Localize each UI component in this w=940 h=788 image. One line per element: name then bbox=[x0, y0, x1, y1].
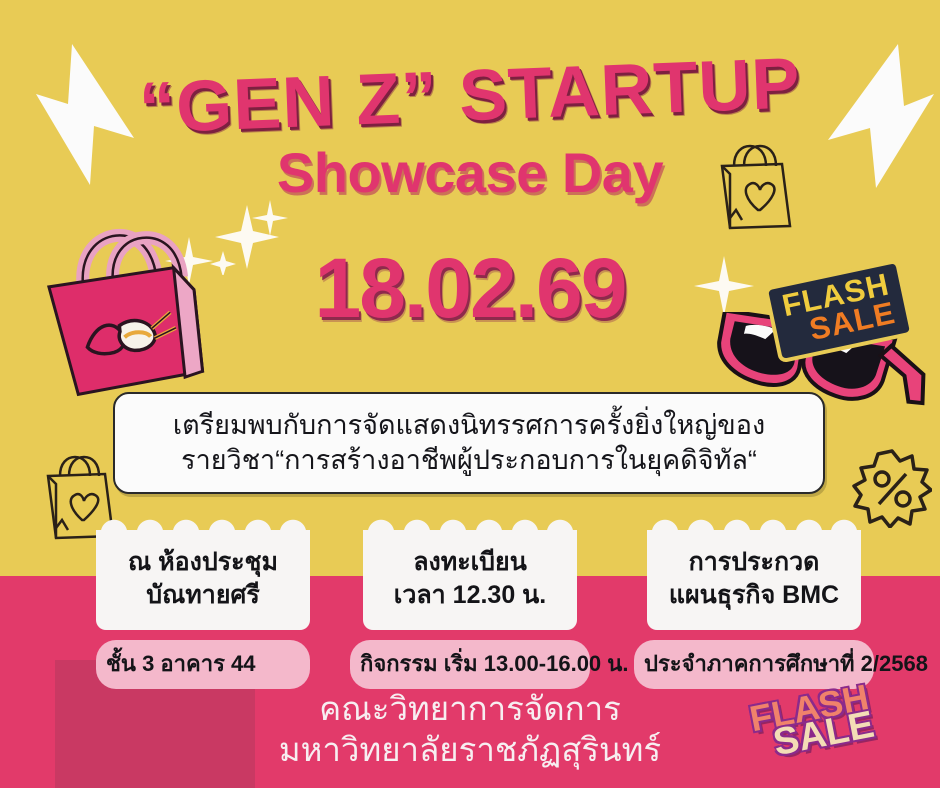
poster-canvas: “GEN Z” STARTUP Showcase Day 18.02.69 bbox=[0, 0, 940, 788]
info-title-line1: ณ ห้องประชุม bbox=[102, 546, 304, 579]
handbag-icon bbox=[28, 220, 243, 405]
poster-title-wrap: “GEN Z” STARTUP bbox=[0, 36, 940, 156]
banner-line-2: รายวิชา“การสร้างอาชีพผู้ประกอบการในยุคดิ… bbox=[181, 443, 757, 478]
info-box-venue: ณ ห้องประชุม บัณทายศรี ชั้น 3 อาคาร 44 bbox=[96, 530, 310, 689]
scallop-edge bbox=[363, 519, 577, 533]
banner-line-1: เตรียมพบกับการจัดแสดงนิทรรศการครั้งยิ่งใ… bbox=[173, 408, 765, 443]
description-banner: เตรียมพบกับการจัดแสดงนิทรรศการครั้งยิ่งใ… bbox=[113, 392, 825, 494]
scallop-edge bbox=[96, 519, 310, 533]
sparkle-star-icon bbox=[248, 196, 292, 240]
info-title-line1: การประกวด bbox=[653, 546, 855, 579]
scallop-edge bbox=[647, 519, 861, 533]
info-title-line2: เวลา 12.30 น. bbox=[369, 579, 571, 612]
info-title-line2: แผนธุรกิจ BMC bbox=[653, 579, 855, 612]
info-tag-venue: ชั้น 3 อาคาร 44 bbox=[96, 640, 310, 689]
info-title-line1: ลงทะเบียน bbox=[369, 546, 571, 579]
percent-badge-icon bbox=[852, 448, 932, 528]
poster-title: “GEN Z” STARTUP bbox=[138, 42, 802, 149]
info-boxes-row: ณ ห้องประชุม บัณทายศรี ชั้น 3 อาคาร 44 ล… bbox=[0, 530, 940, 660]
shopping-bag-heart-icon bbox=[710, 140, 802, 232]
info-title-line2: บัณทายศรี bbox=[102, 579, 304, 612]
info-box-registration: ลงทะเบียน เวลา 12.30 น. กิจกรรม เริ่ม 13… bbox=[363, 530, 577, 689]
info-box-competition: การประกวด แผนธุรกิจ BMC ประจำภาคการศึกษา… bbox=[647, 530, 861, 689]
info-tag-registration: กิจกรรม เริ่ม 13.00-16.00 น. bbox=[350, 640, 590, 689]
